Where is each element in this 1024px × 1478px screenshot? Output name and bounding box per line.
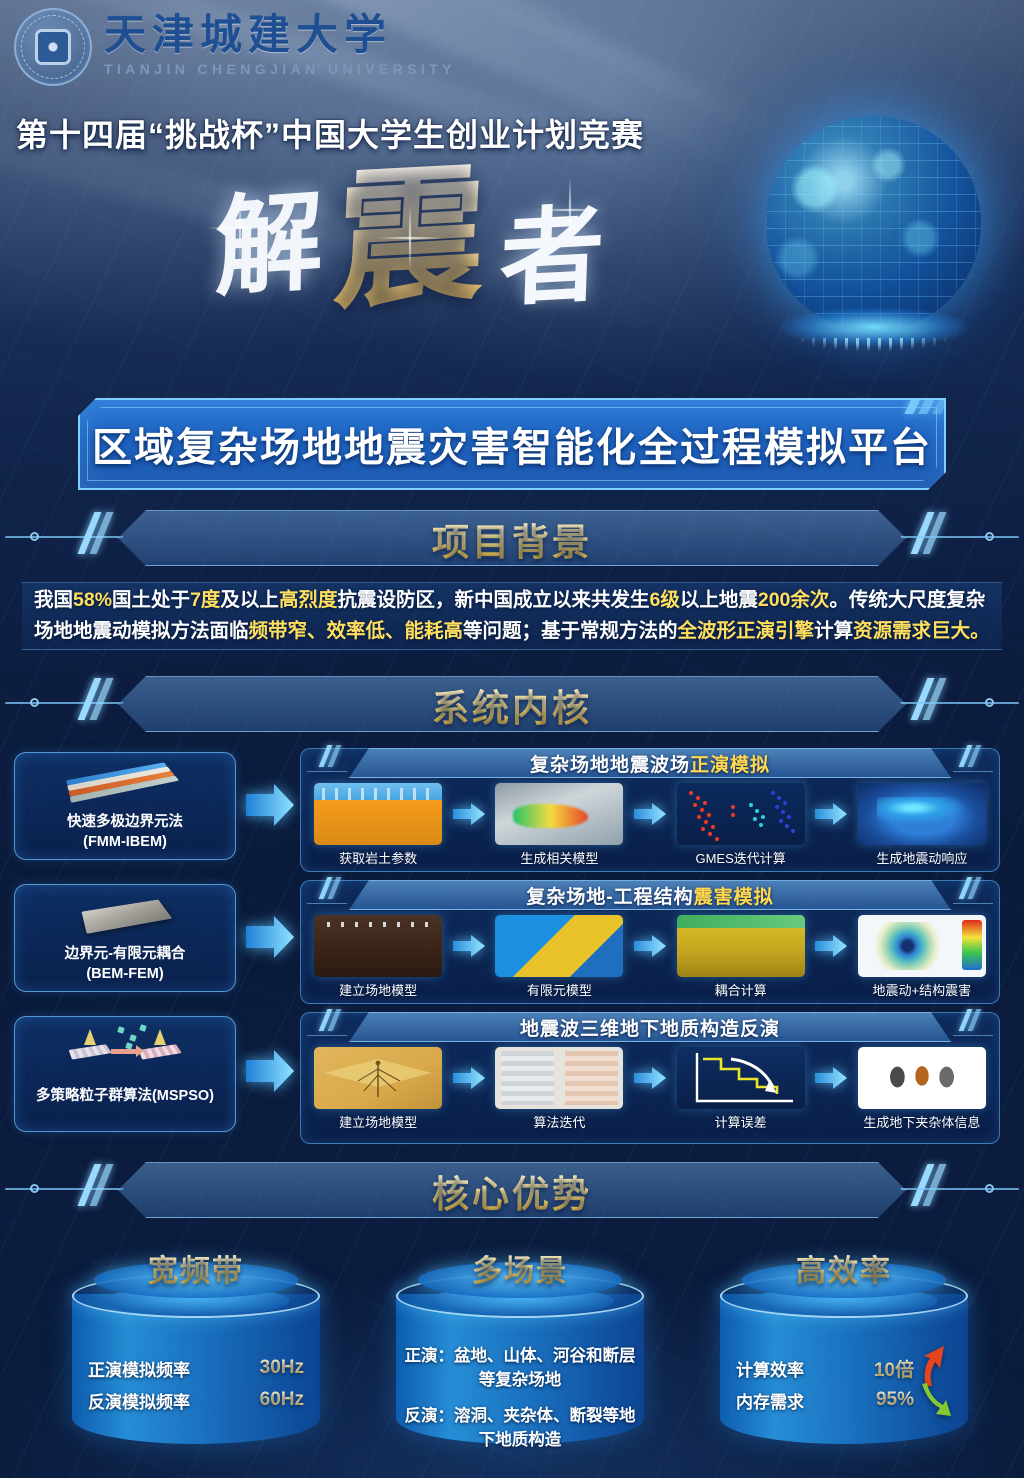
- workflow-title-plain: 复杂场地地震波场: [530, 755, 690, 776]
- paragraph-highlight: 200余次: [758, 589, 830, 611]
- advantage-label: 计算效率: [736, 1356, 804, 1381]
- advantage-row: 反演模拟频率 60Hz: [72, 1384, 320, 1416]
- workflow-step[interactable]: 计算误差: [671, 1047, 809, 1131]
- workflow-steps: 建立场地模型 算法迭代 计算误差: [309, 1047, 991, 1141]
- connector-arrow-icon: [244, 912, 296, 962]
- step-arrow-icon: [629, 783, 672, 845]
- globe-pedestal-icon: [744, 304, 1004, 362]
- network-globe-icon: [766, 116, 981, 331]
- advantage-value: 60Hz: [260, 1389, 304, 1411]
- step-arrow-icon: [629, 915, 672, 977]
- mesh-model-icon: [495, 783, 623, 845]
- network-globe-graphic: [744, 110, 1004, 370]
- advantage-row: 正演模拟频率 30Hz: [72, 1352, 320, 1384]
- method-label-cn: 多策略粒子群算法(MSPSO): [36, 1087, 214, 1105]
- workflow-step[interactable]: 生成地下夹杂体信息: [853, 1047, 991, 1131]
- section-banner-advantages: 核心优势: [0, 1158, 1024, 1222]
- banner-bars-right: [919, 678, 938, 720]
- workflow-step[interactable]: 获取岩土参数: [309, 783, 447, 867]
- flowchart-icon: [495, 1047, 623, 1109]
- workflow-step-caption: 生成地下夹杂体信息: [863, 1112, 980, 1131]
- workflow-step-caption: 建立场地模型: [339, 980, 417, 999]
- workflow-title: 地震波三维地下地质构造反演: [520, 1014, 780, 1041]
- workflow-header: 地震波三维地下地质构造反演: [349, 1012, 951, 1042]
- advantage-value: 30Hz: [260, 1357, 304, 1379]
- workflow-bars-right: [963, 1009, 977, 1031]
- advantage-label: 正演模拟频率: [88, 1356, 190, 1381]
- workflow-step-caption: 建立场地模型: [339, 1112, 417, 1131]
- workflow-step-caption: 有限元模型: [527, 980, 592, 999]
- step-arrow-icon: [810, 783, 853, 845]
- advantage-label: 内存需求: [736, 1388, 804, 1413]
- advantage-label: 反演模拟频率: [88, 1388, 190, 1413]
- workflow-step[interactable]: 生成相关模型: [490, 783, 628, 867]
- calligraphy-char-1: 解: [214, 189, 324, 305]
- step-arrow-icon: [447, 1047, 490, 1109]
- workflow-step-caption: 获取岩土参数: [339, 848, 417, 867]
- slab-mesh-icon: [70, 891, 180, 943]
- background-text-panel: 我国58%国土处于7度及以上高烈度抗震设防区，新中国成立以来共发生6级以上地震2…: [22, 582, 1002, 650]
- workflow-step-caption: GMES迭代计算: [695, 848, 785, 867]
- paragraph-text: 以上地震: [680, 589, 758, 611]
- coupled-block-icon: [677, 915, 805, 977]
- step-arrow-icon: [447, 915, 490, 977]
- advantage-rows: 正演模拟频率 30Hz 反演模拟频率 60Hz: [72, 1352, 320, 1416]
- paragraph-highlight: 全波形正演引擎: [678, 620, 815, 642]
- contour-damage-icon: [858, 915, 986, 977]
- university-header: 天津城建大学 TIANJIN CHENGJIAN UNIVERSITY: [14, 8, 456, 86]
- connector-arrow-icon: [244, 780, 296, 830]
- method-card-fmm-ibem[interactable]: 快速多极边界元法 (FMM-IBEM): [14, 752, 236, 860]
- paragraph-text: 我国: [34, 589, 73, 611]
- university-name-en: TIANJIN CHENGJIAN UNIVERSITY: [104, 61, 456, 77]
- workflow-line-left: [307, 771, 347, 772]
- method-label-cn: 快速多极边界元法: [67, 813, 183, 831]
- workflow-line-right: [953, 771, 993, 772]
- workflow-step[interactable]: 算法迭代: [490, 1047, 628, 1131]
- workflow-steps: 获取岩土参数 生成相关模型: [309, 783, 991, 869]
- inclusion-result-icon: [858, 1047, 986, 1109]
- banner-bars-right: [919, 512, 938, 554]
- workflow-step[interactable]: 有限元模型: [490, 915, 628, 999]
- wavefield-response-icon: [858, 783, 986, 845]
- layered-site-model-icon: [70, 759, 180, 811]
- connector-arrow-icon: [244, 1046, 296, 1096]
- step-arrow-icon: [810, 915, 853, 977]
- paragraph-text: 等问题；基于常规方法的: [463, 620, 678, 642]
- workflow-line-right: [953, 903, 993, 904]
- method-label-en: (FMM-IBEM): [83, 833, 167, 851]
- banner-wire-right: [900, 702, 1021, 708]
- advantage-value: 10倍: [874, 1355, 914, 1382]
- workflow-title: 复杂场地地震波场正演模拟: [530, 750, 770, 777]
- step-arrow-icon: [810, 1047, 853, 1109]
- paragraph-highlight: 58%: [73, 589, 112, 611]
- workflow-line-left: [307, 903, 347, 904]
- section-banner-kernel: 系统内核: [0, 672, 1024, 736]
- paragraph-highlight: 高烈度: [279, 589, 338, 611]
- workflow-title-plain: 复杂场地-工程结构: [526, 887, 693, 908]
- workflow-row-structure-damage: 复杂场地-工程结构震害模拟 建立场地模型 有限元模型 耦合计算: [300, 880, 1000, 1004]
- section-banner-background: 项目背景: [0, 506, 1024, 570]
- university-seal-icon: [14, 8, 92, 86]
- banner-wire-right: [900, 536, 1021, 542]
- advantage-paragraphs: 正演：盆地、山体、河谷和断层等复杂场地 反演：溶洞、夹杂体、断裂等地下地质构造: [396, 1344, 644, 1452]
- workflow-line-left: [307, 1035, 347, 1036]
- workflow-header: 复杂场地-工程结构震害模拟: [349, 880, 951, 910]
- seal-core-icon: [38, 32, 68, 62]
- workflow-step[interactable]: GMES迭代计算: [671, 783, 809, 867]
- workflow-title-accent: 正演模拟: [690, 755, 770, 776]
- university-name-cn: 天津城建大学: [104, 14, 456, 58]
- trend-down-icon: [918, 1380, 952, 1424]
- section-heading-kernel: 系统内核: [0, 678, 1024, 732]
- advantage-title: 多场景: [382, 1246, 658, 1290]
- workflow-step-caption: 计算误差: [715, 1112, 767, 1131]
- workflow-step-caption: 生成地震动响应: [876, 848, 967, 867]
- advantage-paragraph: 正演：盆地、山体、河谷和断层等复杂场地: [396, 1344, 644, 1392]
- advantage-cylinder-bandwidth: 宽频带 正演模拟频率 30Hz 反演模拟频率 60Hz: [58, 1252, 334, 1452]
- workflow-bars-right: [963, 877, 977, 899]
- fem-model-icon: [495, 915, 623, 977]
- banner-wire-right: [900, 1188, 1021, 1194]
- paragraph-highlight: 资源需求巨大。: [853, 620, 990, 642]
- workflow-bars-left: [323, 877, 337, 899]
- error-curve-icon: [677, 1047, 805, 1109]
- advantage-cylinder-scenarios: 多场景 正演：盆地、山体、河谷和断层等复杂场地 反演：溶洞、夹杂体、断裂等地下地…: [382, 1252, 658, 1452]
- workflow-header: 复杂场地地震波场正演模拟: [349, 748, 951, 778]
- platform-title-box: 区域复杂场地地震灾害智能化全过程模拟平台: [78, 398, 946, 490]
- advantage-paragraph: 反演：溶洞、夹杂体、断裂等地下地质构造: [396, 1404, 644, 1452]
- advantage-value: 95%: [876, 1389, 914, 1411]
- paragraph-text: 及以上: [220, 589, 279, 611]
- method-label-cn: 边界元-有限元耦合: [65, 945, 186, 963]
- workflow-bars-left: [323, 1009, 337, 1031]
- paragraph-highlight: 6级: [649, 589, 679, 611]
- 3d-site-block-icon: [314, 1047, 442, 1109]
- workflow-steps: 建立场地模型 有限元模型 耦合计算 地震动+结构震害: [309, 915, 991, 1001]
- lattice-solver-icon: [677, 783, 805, 845]
- paragraph-text: 抗震设防区，新中国成立以来共发生: [337, 589, 649, 611]
- workflow-bars-left: [323, 745, 337, 767]
- workflow-step-caption: 耦合计算: [715, 980, 767, 999]
- paragraph-highlight: 7度: [190, 589, 220, 611]
- workflow-row-inversion: 地震波三维地下地质构造反演 建立场地模型 算法迭代: [300, 1012, 1000, 1144]
- calligraphy-char-2: 震: [331, 161, 489, 319]
- platform-title: 区域复杂场地地震灾害智能化全过程模拟平台: [92, 415, 932, 473]
- section-heading-advantages: 核心优势: [0, 1164, 1024, 1218]
- method-card-bem-fem[interactable]: 边界元-有限元耦合 (BEM-FEM): [14, 884, 236, 992]
- workflow-step[interactable]: 建立场地模型: [309, 1047, 447, 1131]
- workflow-title: 复杂场地-工程结构震害模拟: [526, 882, 773, 909]
- workflow-step[interactable]: 耦合计算: [671, 915, 809, 999]
- workflow-title-accent: 震害模拟: [694, 887, 774, 908]
- particle-swarm-icon: [70, 1023, 180, 1085]
- soil-block-icon: [314, 915, 442, 977]
- calligraphy-char-3: 者: [498, 204, 606, 314]
- method-card-mspso[interactable]: 多策略粒子群算法(MSPSO): [14, 1016, 236, 1132]
- workflow-step-caption: 生成相关模型: [520, 848, 598, 867]
- banner-bars-right: [919, 1164, 938, 1206]
- step-arrow-icon: [629, 1047, 672, 1109]
- background-paragraph: 我国58%国土处于7度及以上高烈度抗震设防区，新中国成立以来共发生6级以上地震2…: [22, 585, 1002, 647]
- workflow-step-caption: 算法迭代: [533, 1112, 585, 1131]
- project-calligraphy-title: 解 震 者: [205, 165, 625, 345]
- workflow-row-forward-simulation: 复杂场地地震波场正演模拟 获取岩土参数 生成相关模型: [300, 748, 1000, 872]
- workflow-bars-right: [963, 745, 977, 767]
- competition-title: 第十四届“挑战杯”中国大学生创业计划竞赛: [16, 110, 644, 156]
- step-arrow-icon: [447, 783, 490, 845]
- paragraph-highlight: 频带窄、效率低、能耗高: [249, 620, 464, 642]
- paragraph-text: 计算: [814, 620, 853, 642]
- workflow-line-right: [953, 1035, 993, 1036]
- advantage-title: 高效率: [706, 1246, 982, 1290]
- workflow-step-caption: 地震动+结构震害: [873, 980, 972, 999]
- geotech-section-icon: [314, 783, 442, 845]
- method-label-en: (BEM-FEM): [86, 965, 163, 983]
- workflow-step[interactable]: 地震动+结构震害: [853, 915, 991, 999]
- workflow-title-plain: 地震波三维地下地质构造反演: [520, 1019, 780, 1040]
- section-heading-background: 项目背景: [0, 512, 1024, 566]
- advantage-cylinder-efficiency: 高效率 计算效率 10倍 内存需求 95%: [706, 1252, 982, 1452]
- university-names: 天津城建大学 TIANJIN CHENGJIAN UNIVERSITY: [104, 14, 456, 79]
- workflow-step[interactable]: 生成地震动响应: [853, 783, 991, 867]
- advantage-title: 宽频带: [58, 1246, 334, 1290]
- workflow-step[interactable]: 建立场地模型: [309, 915, 447, 999]
- paragraph-text: 国土处于: [112, 589, 190, 611]
